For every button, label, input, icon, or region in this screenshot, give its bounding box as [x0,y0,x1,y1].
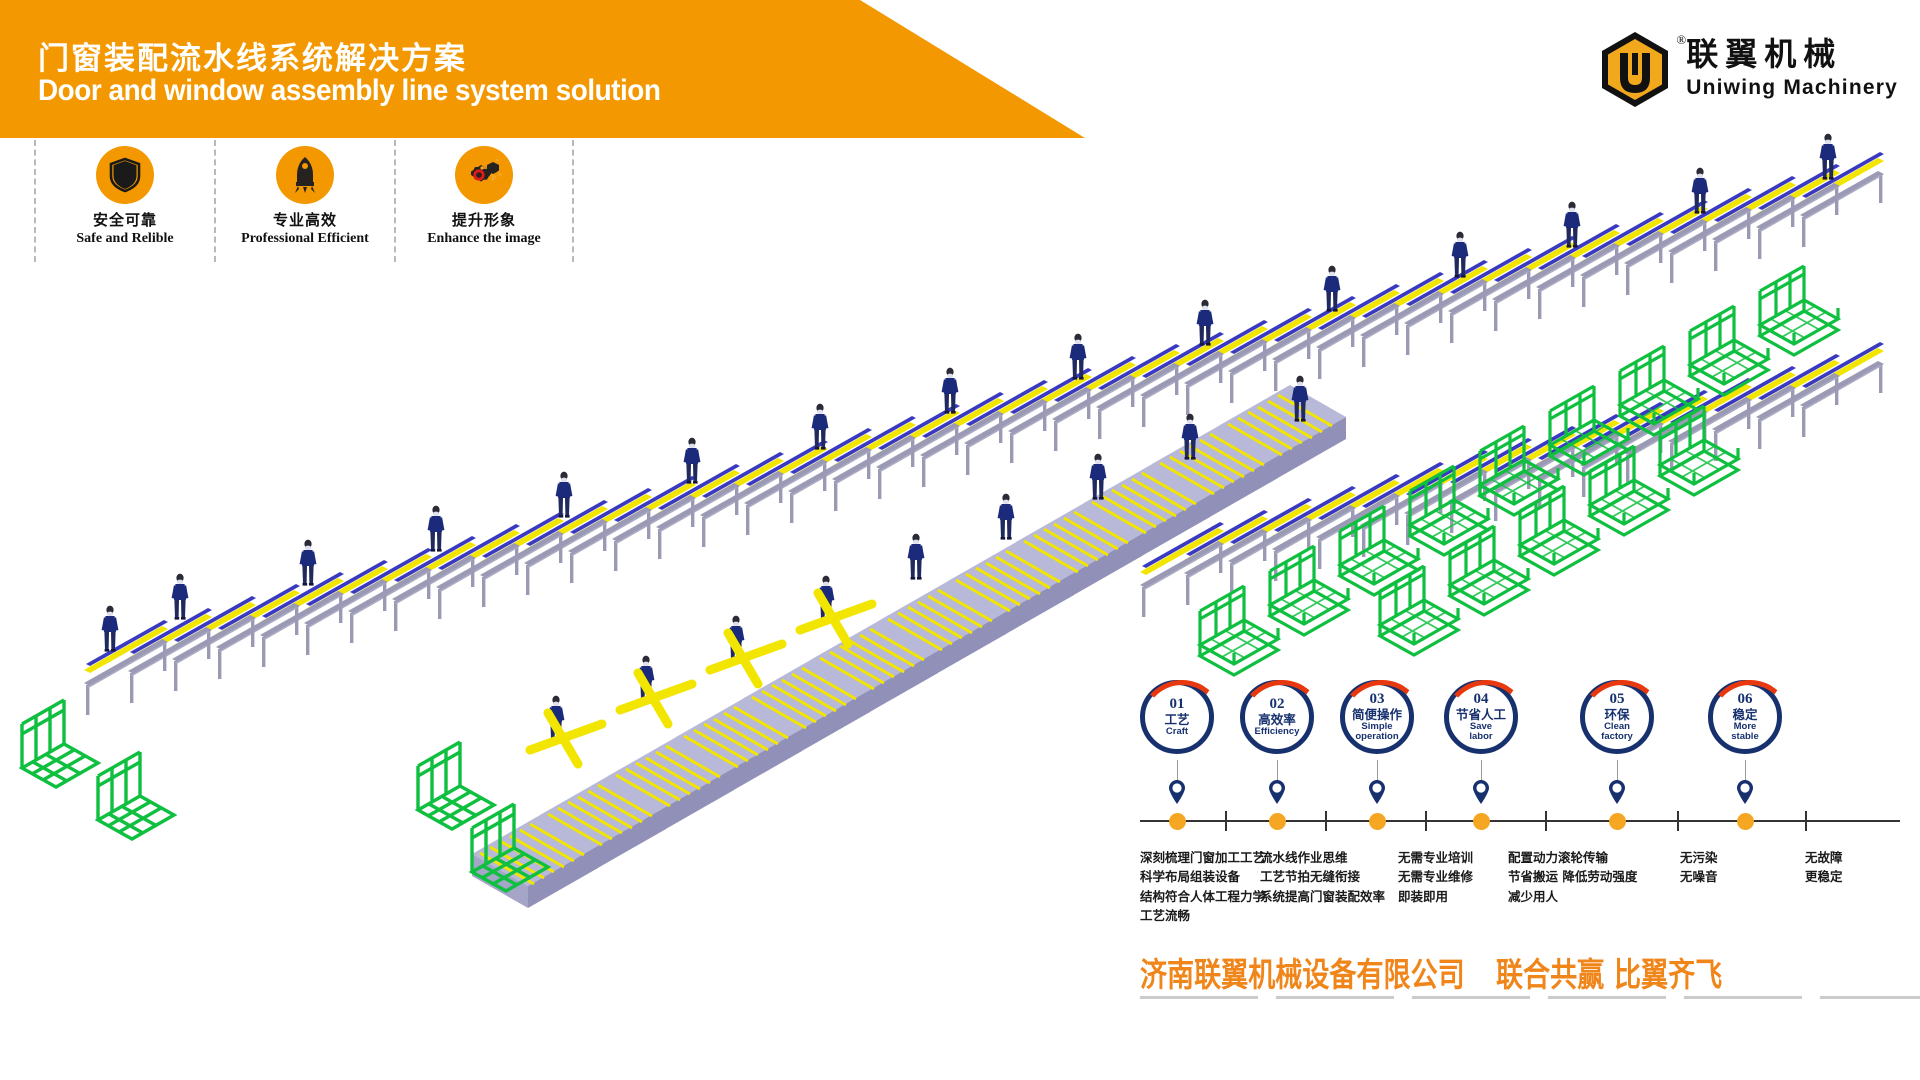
desc-line: 减少用人 [1508,887,1637,906]
benefit-label-en: Simpleoperation [1355,722,1398,742]
benefit-number: 06 [1738,692,1753,708]
benefits-timeline: 01 工艺 Craft 02 高效率 Efficiency 03 简便操作 Si… [1140,680,1910,980]
benefit-description-03: 无需专业培训 无需专业维修 即装即用 [1398,848,1473,906]
desc-line: 节省搬运 降低劳动强度 [1508,867,1637,886]
map-pin-icon [1168,780,1186,804]
footer-divider [1140,996,1920,999]
benefit-description-06: 无故障 更稳定 [1805,848,1843,887]
timeline-tick [1425,811,1427,831]
desc-line: 深刻梳理门窗加工工艺 [1140,848,1265,867]
desc-line: 无噪音 [1680,867,1718,886]
hexagon-u-icon [1598,30,1672,108]
timeline-dot[interactable] [1169,813,1186,830]
benefit-circle-02[interactable]: 02 高效率 Efficiency [1240,680,1314,754]
connector-stem [1617,760,1618,782]
timeline-axis [1140,820,1900,822]
desc-line: 流水线作业思维 [1260,848,1385,867]
desc-line: 无故障 [1805,848,1843,867]
desc-line: 无污染 [1680,848,1718,867]
desc-line: 配置动力滚轮传输 [1508,848,1637,867]
timeline-tick [1677,811,1679,831]
benefit-number: 02 [1270,697,1285,713]
connector-stem [1177,760,1178,782]
desc-line: 结构符合人体工程力学 [1140,887,1265,906]
benefit-description-05: 无污染 无噪音 [1680,848,1718,887]
page-title-en: Door and window assembly line system sol… [38,74,660,108]
connector-stem [1481,760,1482,782]
brand-name-cn: 联翼机械 [1686,37,1898,72]
desc-line: 系统提高门窗装配效率 [1260,887,1385,906]
company-footer: 济南联翼机械设备有限公司 联合共赢 比翼齐飞 [1140,948,1920,996]
brand-logo: ® 联翼机械 Uniwing Machinery [1598,30,1898,108]
benefit-number: 01 [1170,697,1185,713]
benefit-label-cn: 工艺 [1164,713,1189,727]
benefit-circle-05[interactable]: 05 环保 Cleanfactory [1580,680,1654,754]
benefit-description-01: 深刻梳理门窗加工工艺 科学布局组装设备 结构符合人体工程力学 工艺流畅 [1140,848,1265,926]
benefit-label-en: Savelabor [1469,722,1492,742]
timeline-dot[interactable] [1369,813,1386,830]
map-pin-icon [1736,780,1754,804]
benefit-circle-03[interactable]: 03 简便操作 Simpleoperation [1340,680,1414,754]
benefit-circle-04[interactable]: 04 节省人工 Savelabor [1444,680,1518,754]
map-pin-icon [1472,780,1490,804]
benefit-label-cn: 稳定 [1732,708,1757,722]
connector-stem [1745,760,1746,782]
connector-stem [1277,760,1278,782]
benefit-label-en: Efficiency [1255,727,1300,737]
desc-line: 即装即用 [1398,887,1473,906]
timeline-tick [1225,811,1227,831]
benefit-number: 05 [1610,692,1625,708]
timeline-dot[interactable] [1737,813,1754,830]
company-slogan-1: 联合共赢 [1496,948,1604,996]
desc-line: 更稳定 [1805,867,1843,886]
desc-line: 工艺节拍无缝衔接 [1260,867,1385,886]
map-pin-icon [1368,780,1386,804]
registered-mark: ® [1676,32,1686,48]
benefit-description-02: 流水线作业思维 工艺节拍无缝衔接 系统提高门窗装配效率 [1260,848,1385,906]
connector-stem [1377,760,1378,782]
desc-line: 科学布局组装设备 [1140,867,1265,886]
benefit-circle-row: 01 工艺 Craft 02 高效率 Efficiency 03 简便操作 Si… [1140,680,1910,776]
benefit-circle-01[interactable]: 01 工艺 Craft [1140,680,1214,754]
timeline-tick [1325,811,1327,831]
benefit-number: 03 [1370,692,1385,708]
benefit-description-04: 配置动力滚轮传输 节省搬运 降低劳动强度 减少用人 [1508,848,1637,906]
timeline-dot[interactable] [1473,813,1490,830]
benefit-label-en: Cleanfactory [1601,722,1633,742]
benefit-label-en: Morestable [1731,722,1758,742]
timeline-dot[interactable] [1269,813,1286,830]
desc-line: 无需专业培训 [1398,848,1473,867]
timeline-dot[interactable] [1609,813,1626,830]
benefit-label-cn: 节省人工 [1456,708,1506,722]
benefit-circle-06[interactable]: 06 稳定 Morestable [1708,680,1782,754]
timeline-tick [1805,811,1807,831]
benefit-label-en: Craft [1166,727,1188,737]
map-pin-icon [1608,780,1626,804]
benefit-label-cn: 简便操作 [1352,708,1402,722]
benefit-number: 04 [1474,692,1489,708]
company-name: 济南联翼机械设备有限公司 [1140,948,1465,996]
desc-line: 工艺流畅 [1140,906,1265,925]
green-rack-standalone [22,700,548,891]
hexagon-u-logo-icon: ® [1598,30,1672,108]
benefit-label-cn: 高效率 [1258,713,1296,727]
desc-line: 无需专业维修 [1398,867,1473,886]
brand-name-en: Uniwing Machinery [1686,74,1898,101]
benefit-label-cn: 环保 [1604,708,1629,722]
green-cart-group-upper [1200,266,1838,675]
company-slogan-2: 比翼齐飞 [1614,948,1722,996]
map-pin-icon [1268,780,1286,804]
timeline-tick [1545,811,1547,831]
page-title-cn: 门窗装配流水线系统解决方案 [38,33,467,78]
